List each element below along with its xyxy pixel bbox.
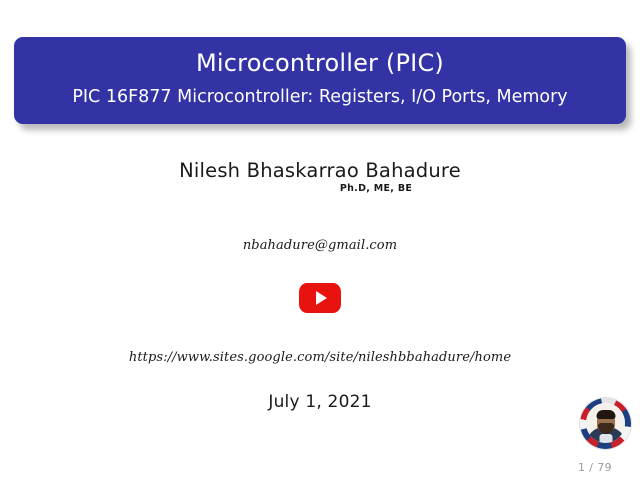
presentation-date: July 1, 2021 — [0, 392, 640, 412]
title-block: Microcontroller (PIC) PIC 16F877 Microco… — [14, 37, 626, 124]
author-website[interactable]: https://www.sites.google.com/site/nilesh… — [0, 350, 640, 365]
page-number: 1 / 79 — [560, 461, 630, 474]
avatar-portrait — [586, 403, 625, 443]
author-name: Nilesh Bhaskarrao Bahadure — [0, 160, 640, 181]
page-subtitle: PIC 16F877 Microcontroller: Registers, I… — [72, 87, 567, 107]
youtube-icon[interactable] — [299, 283, 341, 313]
presentation-slide: Microcontroller (PIC) PIC 16F877 Microco… — [0, 0, 640, 480]
page-title: Microcontroller (PIC) — [196, 50, 444, 78]
institution-avatar-icon — [580, 398, 631, 449]
author-section: Nilesh Bhaskarrao Bahadure Ph.D, ME, BE — [0, 160, 640, 194]
avatar-shirt — [599, 434, 612, 443]
avatar-inner — [586, 403, 625, 443]
youtube-link[interactable] — [0, 283, 640, 313]
author-email: nbahadure@gmail.com — [0, 238, 640, 253]
avatar-hair — [596, 410, 615, 419]
author-credentials: Ph.D, ME, BE — [0, 183, 640, 194]
play-triangle-icon — [316, 291, 327, 305]
